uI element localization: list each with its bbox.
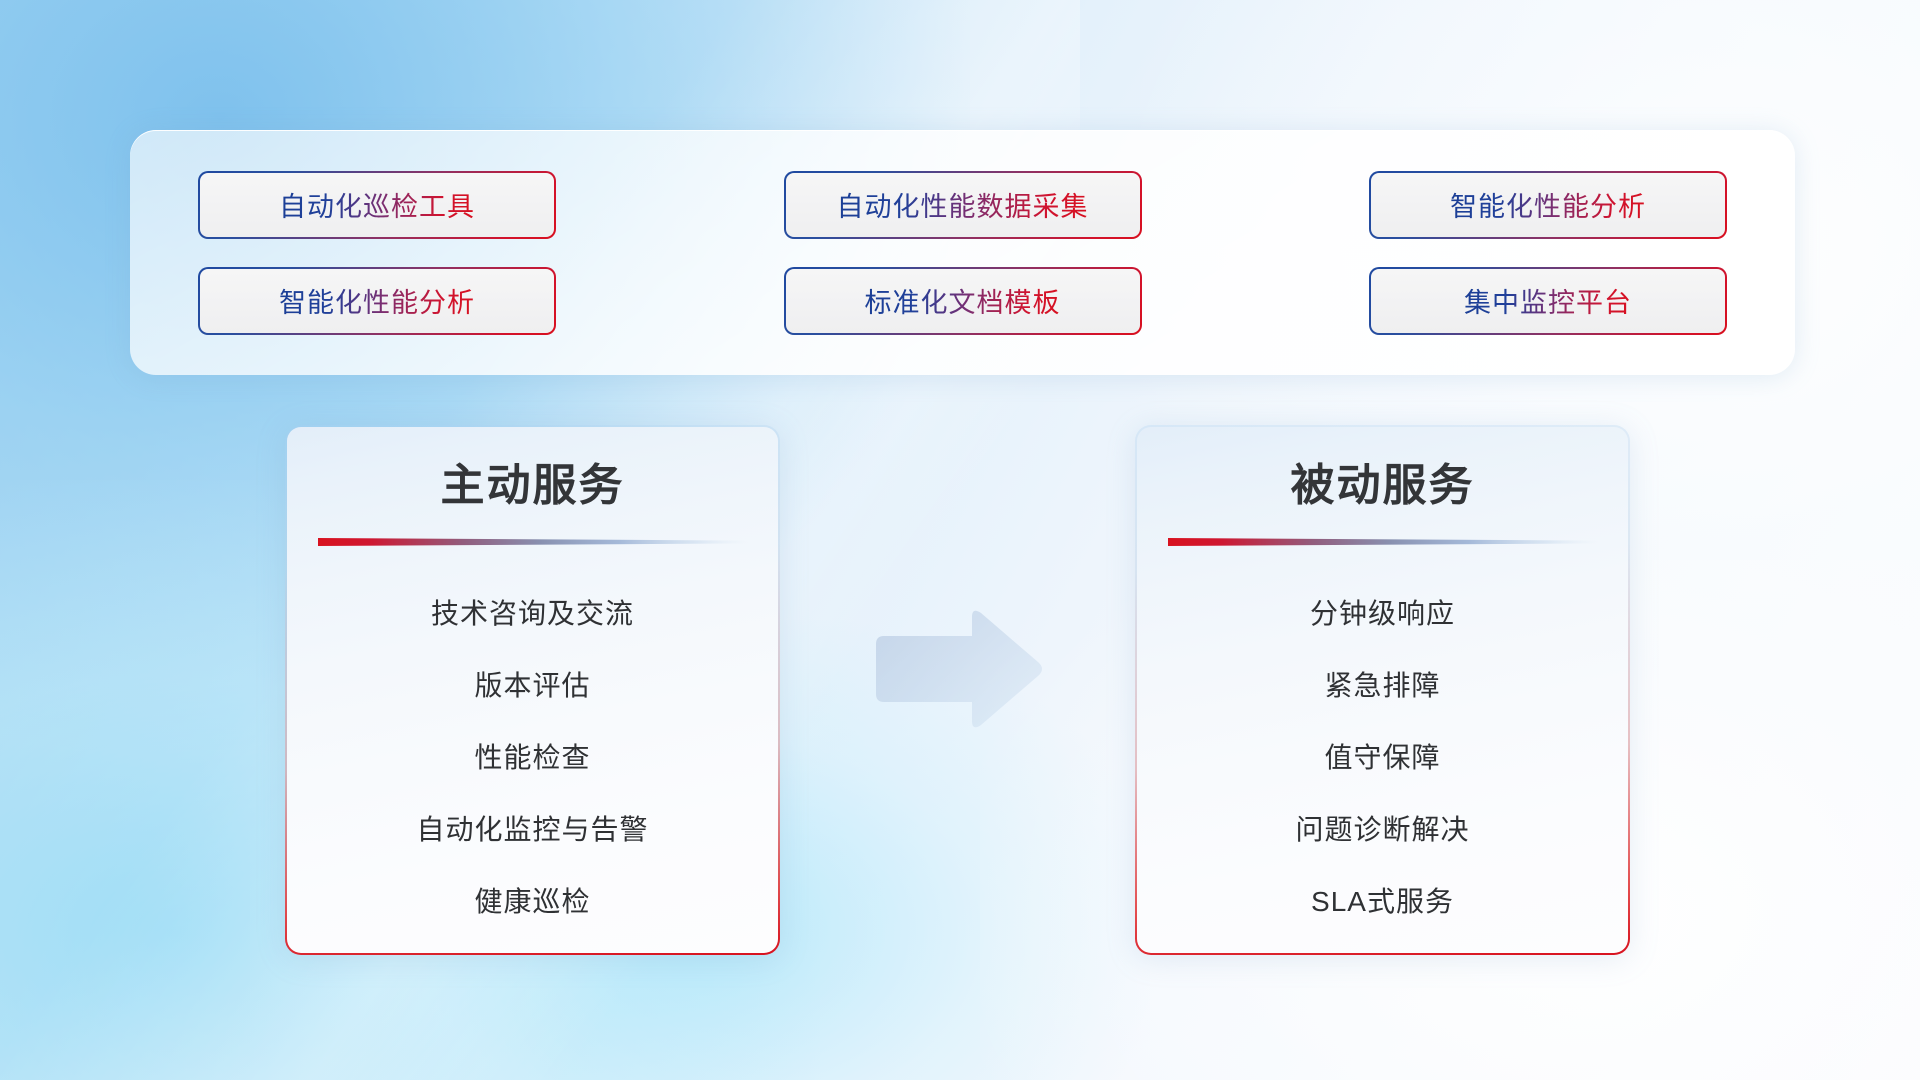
capability-pill-automated-inspection-tool[interactable]: 自动化巡检工具: [198, 171, 556, 239]
list-item: 值守保障: [1324, 722, 1440, 794]
capability-pill-label: 集中监控平台: [1464, 281, 1632, 320]
capability-pill-label: 智能化性能分析: [1450, 185, 1646, 224]
pill-surface: 自动化性能数据采集: [786, 173, 1140, 237]
capability-row-1: 自动化巡检工具 自动化性能数据采集 智能化性能分析: [198, 171, 1727, 239]
list-item: 健康巡检: [474, 866, 590, 938]
card-divider-active: [318, 536, 748, 548]
card-surface: 被动服务 分钟级响应 紧急排障: [1137, 427, 1628, 953]
card-list-active: 技术咨询及交流 版本评估 性能检查 自动化监控与告警 健康巡检: [287, 578, 778, 938]
pill-surface: 集中监控平台: [1371, 269, 1725, 333]
capability-panel: 自动化巡检工具 自动化性能数据采集 智能化性能分析 智能化性能分析 标准化文档模…: [130, 130, 1795, 375]
arrow-right-icon: [868, 604, 1048, 734]
card-title-passive: 被动服务: [1291, 457, 1475, 514]
service-card-passive[interactable]: 被动服务 分钟级响应 紧急排障: [1135, 425, 1630, 955]
capability-pill-standardized-document-template[interactable]: 标准化文档模板: [784, 267, 1142, 335]
capability-pill-label: 自动化巡检工具: [279, 185, 475, 224]
capability-pill-automated-performance-data-collection[interactable]: 自动化性能数据采集: [784, 171, 1142, 239]
pill-surface: 自动化巡检工具: [200, 173, 554, 237]
capability-pill-intelligent-performance-analysis-bottom[interactable]: 智能化性能分析: [198, 267, 556, 335]
card-divider-passive: [1168, 536, 1598, 548]
list-item: 技术咨询及交流: [431, 578, 634, 650]
capability-pill-centralized-monitoring-platform[interactable]: 集中监控平台: [1369, 267, 1727, 335]
capability-pill-label: 智能化性能分析: [279, 281, 475, 320]
list-item: SLA式服务: [1311, 866, 1454, 938]
list-item: 版本评估: [474, 650, 590, 722]
list-item: 紧急排障: [1324, 650, 1440, 722]
pill-surface: 标准化文档模板: [786, 269, 1140, 333]
capability-row-2: 智能化性能分析 标准化文档模板 集中监控平台: [198, 267, 1727, 335]
list-item: 自动化监控与告警: [416, 794, 648, 866]
list-item: 问题诊断解决: [1295, 794, 1469, 866]
list-item: 分钟级响应: [1310, 578, 1455, 650]
service-card-active[interactable]: 主动服务 技术咨询及交流 版本评估: [285, 425, 780, 955]
pill-surface: 智能化性能分析: [1371, 173, 1725, 237]
pill-surface: 智能化性能分析: [200, 269, 554, 333]
card-surface: 主动服务 技术咨询及交流 版本评估: [287, 427, 778, 953]
capability-pill-intelligent-performance-analysis-top[interactable]: 智能化性能分析: [1369, 171, 1727, 239]
card-title-active: 主动服务: [441, 457, 625, 514]
card-list-passive: 分钟级响应 紧急排障 值守保障 问题诊断解决 SLA式服务: [1137, 578, 1628, 938]
capability-pill-label: 自动化性能数据采集: [837, 185, 1089, 224]
capability-pill-label: 标准化文档模板: [865, 281, 1061, 320]
list-item: 性能检查: [474, 722, 590, 794]
